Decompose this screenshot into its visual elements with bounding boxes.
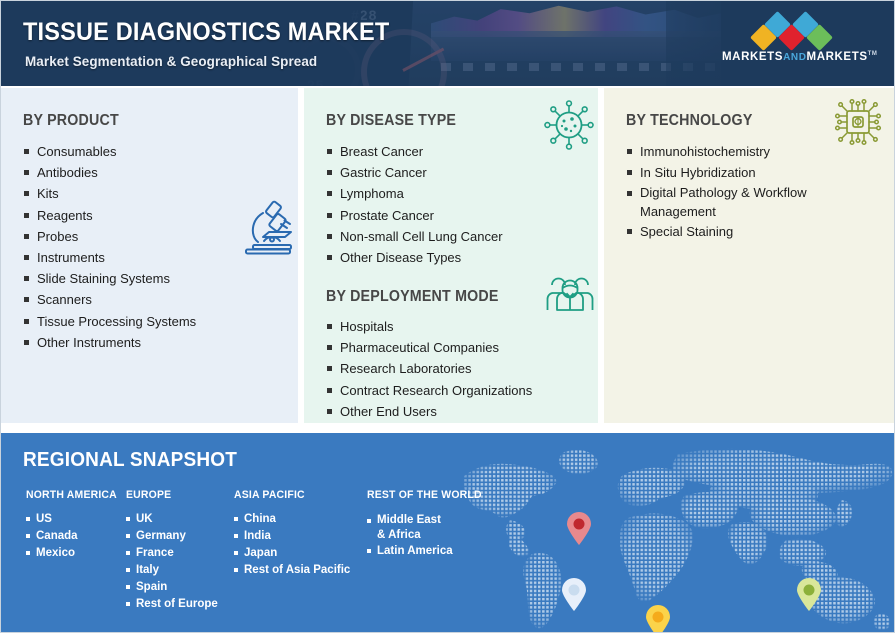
- section-by-disease-type: BY DISEASE TYPE: [304, 88, 598, 423]
- region-group-europe: EUROPE UK Germany France Italy Spain Res…: [126, 489, 218, 613]
- list-item: Reagents: [23, 205, 196, 226]
- region-heading: EUROPE: [126, 489, 213, 501]
- section-by-product: BY PRODUCT Consumables Antibodies Kits R…: [1, 88, 298, 423]
- list-item: In Situ Hybridization: [626, 162, 826, 183]
- list-item: Prostate Cancer: [326, 205, 503, 226]
- list-item: Slide Staining Systems: [23, 268, 196, 289]
- list-item: India: [234, 528, 350, 545]
- by-product-heading: BY PRODUCT: [23, 112, 119, 130]
- section-regional-snapshot: REGIONAL SNAPSHOT NORTH AMERICA US Canad…: [1, 433, 895, 633]
- list-item: Mexico: [26, 545, 122, 562]
- people-group-icon: [546, 268, 594, 317]
- list-item: Breast Cancer: [326, 141, 503, 162]
- logo-diamonds: [722, 17, 870, 47]
- region-group-north-america: NORTH AMERICA US Canada Mexico: [26, 489, 122, 562]
- by-technology-list: Immunohistochemistry In Situ Hybridizati…: [626, 141, 826, 243]
- list-item: France: [126, 545, 218, 562]
- infographic-page: 25 25 PCS #28 #28 TISSUE DIAGNOSTICS MAR…: [0, 0, 895, 633]
- marketsandmarkets-logo: MARKETSANDMARKETSTM: [722, 17, 870, 73]
- region-list: UK Germany France Italy Spain Rest of Eu…: [126, 511, 218, 613]
- microscope-icon: [239, 200, 293, 261]
- world-map: [456, 438, 895, 633]
- logo-text-markets1: MARKETS: [722, 51, 783, 63]
- list-item: Kits: [23, 183, 196, 204]
- list-item: Research Laboratories: [326, 358, 532, 379]
- list-item: Consumables: [23, 141, 196, 162]
- by-deployment-mode-list: Hospitals Pharmaceutical Companies Resea…: [326, 316, 532, 422]
- logo-text-markets2: MARKETS: [807, 51, 868, 63]
- list-item: Special Staining: [626, 221, 826, 242]
- list-item: Tissue Processing Systems: [23, 311, 196, 332]
- region-list: Middle East & Africa Latin America: [367, 513, 488, 560]
- list-item: Other Instruments: [23, 332, 196, 353]
- list-item: UK: [126, 511, 218, 528]
- list-item: Lymphoma: [326, 183, 503, 204]
- list-item: Italy: [126, 562, 218, 579]
- list-item: Contract Research Organizations: [326, 380, 532, 401]
- logo-wordmark: MARKETSANDMARKETSTM: [722, 51, 870, 63]
- logo-trademark-icon: TM: [868, 51, 878, 57]
- logo-text-and: AND: [783, 52, 806, 63]
- region-heading: ASIA PACIFIC: [234, 489, 344, 501]
- list-item: US: [26, 511, 122, 528]
- list-item: China: [234, 511, 350, 528]
- list-item: Scanners: [23, 289, 196, 310]
- page-title: TISSUE DIAGNOSTICS MARKET: [23, 18, 389, 47]
- region-group-asia-pacific: ASIA PACIFIC China India Japan Rest of A…: [234, 489, 350, 579]
- by-deployment-mode-heading: BY DEPLOYMENT MODE: [326, 288, 499, 306]
- region-heading: NORTH AMERICA: [26, 489, 117, 501]
- list-item: Probes: [23, 226, 196, 247]
- list-item: Rest of Europe: [126, 596, 218, 613]
- list-item: Hospitals: [326, 316, 532, 337]
- region-list: China India Japan Rest of Asia Pacific: [234, 511, 350, 579]
- list-item: Pharmaceutical Companies: [326, 337, 532, 358]
- list-item: Gastric Cancer: [326, 162, 503, 183]
- region-heading: REST OF THE WORLD: [367, 489, 482, 501]
- by-technology-heading: BY TECHNOLOGY: [626, 112, 753, 130]
- list-item: Spain: [126, 579, 218, 596]
- region-group-rest-of-world: REST OF THE WORLD Middle East & Africa L…: [367, 489, 488, 560]
- list-item: Immunohistochemistry: [626, 141, 826, 162]
- header-banner: 25 25 PCS #28 #28 TISSUE DIAGNOSTICS MAR…: [1, 1, 895, 86]
- list-item: Instruments: [23, 247, 196, 268]
- list-item: Middle East & Africa: [367, 513, 445, 543]
- list-item: Digital Pathology & Workflow Management: [626, 183, 826, 221]
- list-item: Canada: [26, 528, 122, 545]
- list-item: Germany: [126, 528, 218, 545]
- region-list: US Canada Mexico: [26, 511, 122, 562]
- regional-snapshot-heading: REGIONAL SNAPSHOT: [23, 449, 237, 472]
- list-item: Antibodies: [23, 162, 196, 183]
- list-item: Latin America: [367, 543, 488, 560]
- list-item: Other End Users: [326, 401, 532, 422]
- chip-brain-icon: [832, 96, 884, 153]
- by-disease-type-heading: BY DISEASE TYPE: [326, 112, 456, 130]
- list-item: Japan: [234, 545, 350, 562]
- list-item: Other Disease Types: [326, 247, 503, 268]
- by-product-list: Consumables Antibodies Kits Reagents Pro…: [23, 141, 196, 353]
- page-subtitle: Market Segmentation & Geographical Sprea…: [25, 53, 317, 69]
- list-item: Non-small Cell Lung Cancer: [326, 226, 503, 247]
- by-disease-type-list: Breast Cancer Gastric Cancer Lymphoma Pr…: [326, 141, 503, 268]
- virus-icon: [544, 100, 594, 155]
- section-by-technology: BY TECHNOLOGY: [604, 88, 895, 423]
- list-item: Rest of Asia Pacific: [234, 562, 350, 579]
